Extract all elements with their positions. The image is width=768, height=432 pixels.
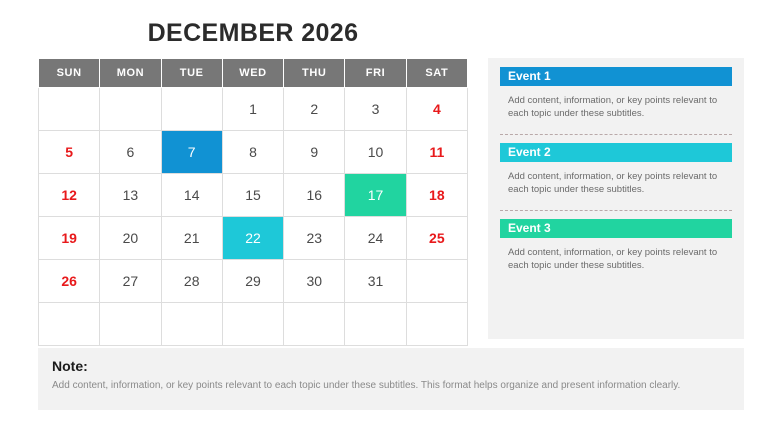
day-cell-1[interactable]: 1 (222, 88, 283, 131)
day-cell-12[interactable]: 12 (39, 174, 100, 217)
event-body-1: Add content, information, or key points … (500, 86, 732, 120)
day-cell-24[interactable]: 24 (345, 217, 406, 260)
day-cell-9[interactable]: 9 (284, 131, 345, 174)
event-body-2: Add content, information, or key points … (500, 162, 732, 196)
day-cell-empty (222, 303, 283, 346)
event-body-3: Add content, information, or key points … (500, 238, 732, 272)
day-cell-13[interactable]: 13 (100, 174, 161, 217)
day-cell-29[interactable]: 29 (222, 260, 283, 303)
note-title: Note: (52, 358, 730, 375)
day-cell-3[interactable]: 3 (345, 88, 406, 131)
day-cell-empty (39, 303, 100, 346)
day-cell-27[interactable]: 27 (100, 260, 161, 303)
day-cell-5[interactable]: 5 (39, 131, 100, 174)
day-cell-25[interactable]: 25 (406, 217, 467, 260)
day-cell-empty (100, 88, 161, 131)
page-title: DECEMBER 2026 (38, 18, 468, 48)
calendar-week-row: 1234 (39, 88, 468, 131)
day-cell-14[interactable]: 14 (161, 174, 222, 217)
day-cell-23[interactable]: 23 (284, 217, 345, 260)
event-title-1[interactable]: Event 1 (500, 67, 732, 86)
event-item-2: Event 2Add content, information, or key … (500, 143, 732, 196)
day-cell-8[interactable]: 8 (222, 131, 283, 174)
calendar-header-row: SUNMONTUEWEDTHUFRISAT (39, 59, 468, 88)
day-cell-empty (345, 303, 406, 346)
day-cell-31[interactable]: 31 (345, 260, 406, 303)
day-cell-4[interactable]: 4 (406, 88, 467, 131)
day-cell-empty (39, 88, 100, 131)
day-cell-17[interactable]: 17 (345, 174, 406, 217)
day-cell-empty (406, 260, 467, 303)
calendar-body: 1234567891011121314151617181920212223242… (39, 88, 468, 346)
day-cell-21[interactable]: 21 (161, 217, 222, 260)
day-cell-26[interactable]: 26 (39, 260, 100, 303)
events-panel: Event 1Add content, information, or key … (488, 58, 744, 339)
weekday-header-thu: THU (284, 59, 345, 88)
event-divider (500, 210, 732, 211)
day-cell-22[interactable]: 22 (222, 217, 283, 260)
note-text: Add content, information, or key points … (52, 379, 692, 393)
day-cell-18[interactable]: 18 (406, 174, 467, 217)
day-cell-empty (284, 303, 345, 346)
weekday-header-tue: TUE (161, 59, 222, 88)
event-item-3: Event 3Add content, information, or key … (500, 219, 732, 272)
weekday-header-sat: SAT (406, 59, 467, 88)
note-box: Note: Add content, information, or key p… (38, 348, 744, 410)
day-cell-15[interactable]: 15 (222, 174, 283, 217)
calendar-week-row: 12131415161718 (39, 174, 468, 217)
weekday-header-wed: WED (222, 59, 283, 88)
day-cell-empty (161, 88, 222, 131)
calendar-week-row: 19202122232425 (39, 217, 468, 260)
event-item-1: Event 1Add content, information, or key … (500, 67, 732, 120)
day-cell-19[interactable]: 19 (39, 217, 100, 260)
event-title-3[interactable]: Event 3 (500, 219, 732, 238)
day-cell-2[interactable]: 2 (284, 88, 345, 131)
weekday-header-fri: FRI (345, 59, 406, 88)
day-cell-30[interactable]: 30 (284, 260, 345, 303)
calendar-week-row (39, 303, 468, 346)
day-cell-20[interactable]: 20 (100, 217, 161, 260)
weekday-header-mon: MON (100, 59, 161, 88)
day-cell-16[interactable]: 16 (284, 174, 345, 217)
day-cell-11[interactable]: 11 (406, 131, 467, 174)
calendar-week-row: 262728293031 (39, 260, 468, 303)
day-cell-10[interactable]: 10 (345, 131, 406, 174)
calendar-grid: SUNMONTUEWEDTHUFRISAT 123456789101112131… (38, 58, 468, 346)
weekday-header-sun: SUN (39, 59, 100, 88)
day-cell-6[interactable]: 6 (100, 131, 161, 174)
day-cell-7[interactable]: 7 (161, 131, 222, 174)
day-cell-empty (161, 303, 222, 346)
day-cell-empty (406, 303, 467, 346)
day-cell-empty (100, 303, 161, 346)
event-title-2[interactable]: Event 2 (500, 143, 732, 162)
calendar-week-row: 567891011 (39, 131, 468, 174)
day-cell-28[interactable]: 28 (161, 260, 222, 303)
event-divider (500, 134, 732, 135)
